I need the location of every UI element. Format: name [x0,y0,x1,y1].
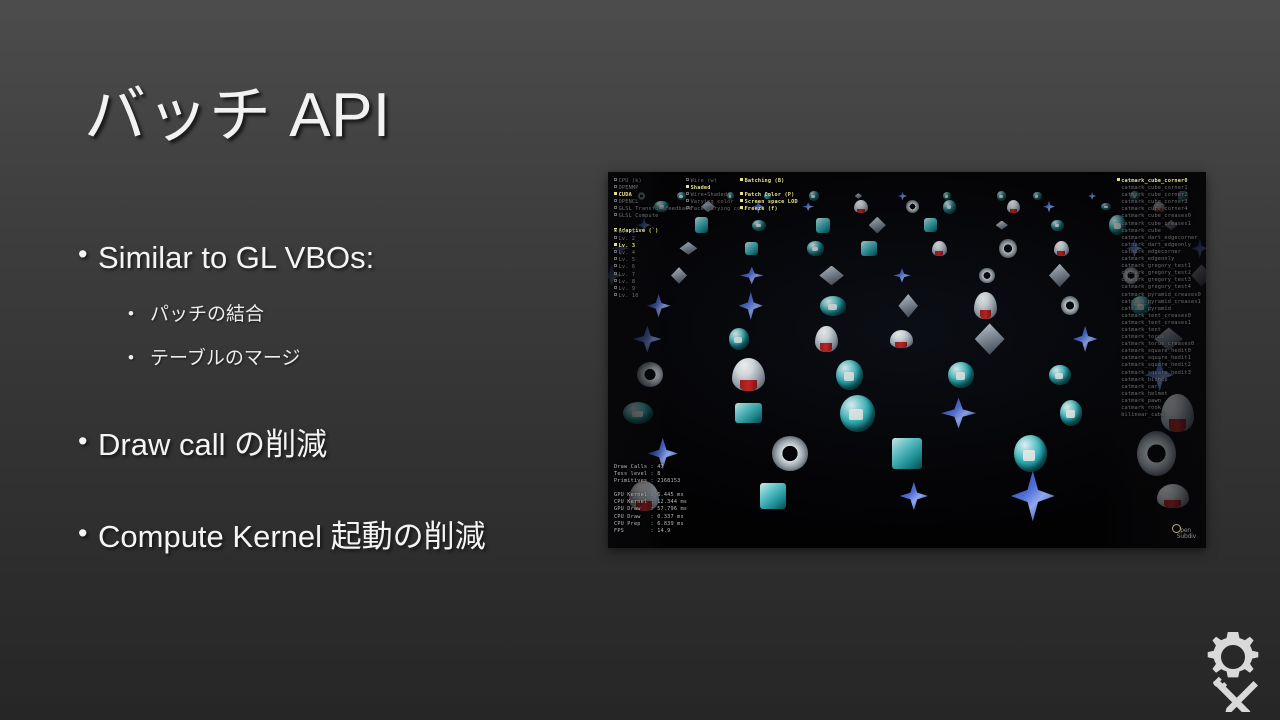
hud-model-item[interactable]: catmark_cube_creases1 [1117,221,1201,228]
checkbox-icon[interactable] [614,192,617,195]
checkbox-icon[interactable] [740,206,743,209]
viewport-model [997,191,1006,201]
viewport-model [732,358,765,391]
hud-model-list[interactable]: catmark_cube_corner0catmark_cube_corner1… [1117,178,1201,419]
checkbox-icon[interactable] [614,279,617,282]
viewport-model [999,239,1016,258]
checkbox-icon[interactable] [614,293,617,296]
checkbox-icon[interactable] [1117,178,1120,181]
viewport-model [1157,484,1189,508]
viewport-model [869,217,886,234]
logo-text-bottom: Subdiv [1177,533,1196,540]
hud-model-item[interactable]: catmark_edgecorner [1117,249,1201,256]
checkbox-icon[interactable] [614,243,617,246]
viewport-model [941,398,976,429]
spacer [78,463,578,519]
viewport-model [836,360,863,390]
viewport-model [735,403,761,424]
viewport-model [943,200,956,214]
hud-level-item[interactable]: Lv. 7 [614,272,639,279]
spacer [78,276,578,304]
bullet-item-2: • パッチの結合 [128,304,578,327]
hud-model-item[interactable]: catmark_car [1117,384,1201,391]
viewport-model [1101,203,1111,210]
hud-model-item[interactable]: catmark_pawn [1117,398,1201,405]
checkbox-icon[interactable] [614,206,617,209]
viewport-model [772,436,809,470]
hud-option-item[interactable]: Freeze (f) [740,206,798,213]
bullet-item-5: • Compute Kernel 起動の削減 [78,519,578,555]
viewport-model [861,241,876,256]
viewport-model [752,220,766,231]
viewport-model [819,266,844,286]
checkbox-icon[interactable] [614,213,617,216]
bullet-marker: • [128,304,150,324]
checkbox-icon[interactable] [614,185,617,188]
hud-backend-item[interactable]: GLSL Compute [614,213,692,220]
hud-options-menu[interactable]: Batching (B) Patch Color (P)Screen space… [740,178,798,213]
viewport-model [932,241,947,257]
viewport-model [695,217,708,233]
viewport-model [943,192,951,200]
hud-model-item[interactable]: catmark_helmet [1117,391,1201,398]
bullet-text: Similar to GL VBOs: [98,240,374,276]
viewport-model [974,292,997,319]
viewport-model [740,267,764,285]
bullet-marker: • [78,427,98,455]
viewport-model [1061,296,1079,315]
hud-model-item[interactable]: catmark_dart_edgeonly [1117,242,1201,249]
bullet-marker: • [78,240,98,268]
viewport-model [815,326,838,353]
checkbox-icon[interactable] [740,178,743,181]
hud-model-item[interactable]: catmark_tent_creases0 [1117,313,1201,320]
hud-model-item[interactable]: catmark_square_hedit3 [1117,370,1201,377]
hud-model-item[interactable]: catmark_tent_creases1 [1117,320,1201,327]
hud-model-item[interactable]: catmark_square_hedit2 [1117,362,1201,369]
bullet-text: Draw call の削減 [98,427,327,463]
hud-level-menu[interactable]: Lv. 1Lv. 2Lv. 3Lv. 4Lv. 5Lv. 6Lv. 7Lv. 8… [614,229,639,300]
viewport-model [1043,200,1055,212]
viewport-model [1049,264,1070,287]
viewport-model [890,330,913,347]
viewport-model [633,326,661,353]
checkbox-icon[interactable] [740,199,743,202]
checkbox-icon[interactable] [614,178,617,181]
hud-stats-readout: Draw Calls : 47Tess level : 8Primitives … [614,464,687,535]
checkbox-icon[interactable] [614,199,617,202]
viewport-model [900,482,928,510]
viewport-model [893,268,911,283]
page-title: バッチ API [84,64,391,154]
viewport-model [1088,192,1096,200]
hud-model-item[interactable]: catmark_pyramid [1117,306,1201,313]
viewport-model [855,193,862,199]
spacer [78,326,578,348]
viewport-model [898,294,918,318]
checkbox-icon[interactable] [686,178,689,181]
hud-level-item[interactable]: Lv. 6 [614,264,639,271]
hud-model-item[interactable]: bilinear_cube [1117,412,1201,419]
hud-option-item[interactable]: Batching (B) [740,178,798,185]
hud-model-item[interactable]: catmark_gregory_test4 [1117,284,1201,291]
viewport-model [854,200,868,214]
hud-model-item[interactable]: catmark_pyramid_creases0 [1117,292,1201,299]
viewport-model [892,438,922,468]
bullet-text: テーブルのマージ [150,348,300,371]
hud-stat-row: Primitives : 2168153 [614,478,687,485]
checkbox-icon[interactable] [614,272,617,275]
viewport-model [623,402,653,424]
viewport-model [1060,400,1083,426]
checkbox-icon[interactable] [614,286,617,289]
viewport-model [924,218,937,232]
viewport-model [1073,326,1098,352]
viewport-model [679,242,697,255]
bullet-text: Compute Kernel 起動の削減 [98,519,486,555]
checkbox-icon[interactable] [686,185,689,188]
viewport-model [1051,220,1063,231]
hud-model-item[interactable]: catmark_pyramid_creases1 [1117,299,1201,306]
hud-model-item[interactable]: catmark_tent [1117,327,1201,334]
checkbox-icon[interactable] [686,192,689,195]
hud-model-item[interactable]: catmark_cube [1117,228,1201,235]
hud-model-item[interactable]: catmark_bishop [1117,377,1201,384]
viewport-model [820,296,846,316]
hud-model-item[interactable]: catmark_cube_creases0 [1117,213,1201,220]
viewport-model [729,328,749,349]
viewport-model [979,268,994,282]
hud-backend-menu[interactable]: CPU (k)OPENMPCUDAOPENCLGLSL TransformFee… [614,178,692,235]
viewport-model [1033,192,1042,201]
viewport-model [637,362,663,387]
checkbox-icon[interactable] [686,199,689,202]
bullet-text: パッチの結合 [150,304,264,327]
viewport-model [802,202,814,211]
viewport-model [840,395,875,432]
hud-timing-row: CPU Prep : 6.839 ms [614,521,687,528]
viewport-model [948,362,974,388]
checkbox-icon[interactable] [614,229,617,232]
hud-level-item[interactable]: Lv. 10 [614,293,639,300]
viewport-model [739,292,763,320]
opensubdiv-logo: pen Subdiv [1172,524,1196,540]
viewport-model [1011,471,1055,522]
bullet-marker: • [128,348,150,368]
checkbox-icon[interactable] [614,236,617,239]
viewport-model [1137,431,1176,476]
slide-root: バッチ API • Similar to GL VBOs: • パッチの結合 •… [0,0,1280,720]
opensubdiv-screenshot: CPU (k)OPENMPCUDAOPENCLGLSL TransformFee… [608,172,1206,548]
viewport-model [809,191,819,202]
hud-model-item[interactable]: catmark_dart_edgecorner [1117,235,1201,242]
bullet-list: • Similar to GL VBOs: • パッチの結合 • テーブルのマー… [78,240,578,555]
checkbox-icon[interactable] [614,257,617,260]
checkbox-icon[interactable] [740,192,743,195]
bullet-item-4: • Draw call の削減 [78,427,578,463]
viewport-model [1014,435,1047,472]
viewport-model [975,323,1005,354]
spacer [78,371,578,427]
bullet-item-1: • Similar to GL VBOs: [78,240,578,276]
viewport-model [1049,365,1071,385]
viewport-model [647,294,671,317]
hud-timing-row: FPS : 14.9 [614,528,687,535]
viewport-model [906,200,919,213]
viewport-model [1054,241,1069,256]
viewport-model [807,241,823,256]
hud-timing-row: CPU Draw : 0.337 ms [614,514,687,521]
checkbox-icon[interactable] [614,264,617,267]
hud-timing-row: GPU Draw : 57.796 ms [614,506,687,513]
gear-icon [1208,632,1259,677]
checkbox-icon[interactable] [614,250,617,253]
viewport-model [671,267,687,284]
viewport-model [898,191,907,200]
bullet-item-3: • テーブルのマージ [128,348,578,371]
hud-level-item[interactable]: Lv. 8 [614,279,639,286]
viewport-model [745,242,757,255]
viewport-model [1007,200,1020,213]
viewport-model [816,218,830,233]
hud-level-item[interactable]: Lv. 9 [614,286,639,293]
checkbox-icon[interactable] [686,206,689,209]
gear-tools-logo [1202,628,1264,712]
viewport-model [996,221,1008,230]
viewport-model [760,483,786,508]
bullet-marker: • [78,519,98,547]
